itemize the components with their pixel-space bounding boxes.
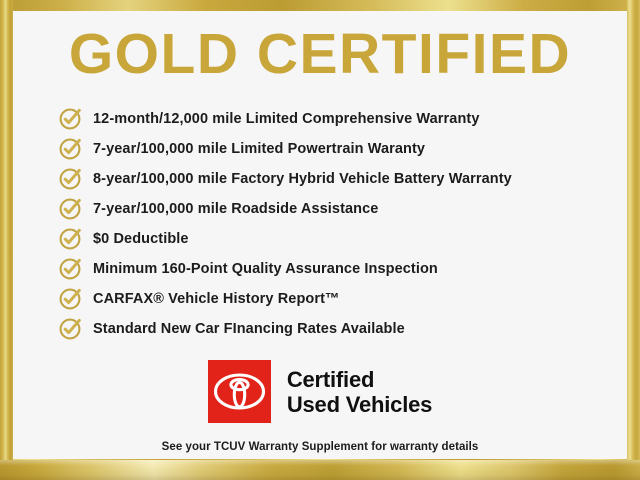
- gold-frame-left: [0, 0, 13, 480]
- gold-frame-top: [0, 0, 640, 11]
- gold-certified-certificate: GOLD CERTIFIED 12-month/12,000 mile Limi…: [0, 0, 640, 480]
- list-item: Minimum 160-Point Quality Assurance Insp…: [58, 254, 617, 284]
- list-item: 7-year/100,000 mile Roadside Assistance: [58, 194, 617, 224]
- list-item-label: 7-year/100,000 mile Roadside Assistance: [93, 201, 378, 217]
- check-circle-icon: [58, 315, 84, 341]
- check-circle-icon: [58, 255, 84, 281]
- certificate-panel: GOLD CERTIFIED 12-month/12,000 mile Limi…: [13, 11, 627, 459]
- list-item: 12-month/12,000 mile Limited Comprehensi…: [58, 104, 617, 134]
- list-item: CARFAX® Vehicle History Report™: [58, 284, 617, 314]
- check-circle-icon: [58, 225, 84, 251]
- list-item: 7-year/100,000 mile Limited Powertrain W…: [58, 134, 617, 164]
- list-item-label: 8-year/100,000 mile Factory Hybrid Vehic…: [93, 171, 512, 187]
- check-circle-icon: [58, 135, 84, 161]
- gold-frame-right: [627, 0, 640, 480]
- toyota-certified-used-vehicles-lockup: Certified Used Vehicles: [13, 360, 627, 423]
- toyota-emblem-icon: [208, 360, 271, 423]
- list-item-label: Standard New Car FInancing Rates Availab…: [93, 321, 405, 337]
- check-circle-icon: [58, 285, 84, 311]
- list-item-label: Minimum 160-Point Quality Assurance Insp…: [93, 261, 438, 277]
- check-circle-icon: [58, 165, 84, 191]
- benefits-list: 12-month/12,000 mile Limited Comprehensi…: [58, 104, 617, 344]
- brand-wordmark-line2: Used Vehicles: [287, 392, 432, 417]
- list-item: $0 Deductible: [58, 224, 617, 254]
- check-circle-icon: [58, 195, 84, 221]
- list-item-label: 7-year/100,000 mile Limited Powertrain W…: [93, 141, 425, 157]
- brand-wordmark: Certified Used Vehicles: [287, 367, 432, 417]
- list-item-label: 12-month/12,000 mile Limited Comprehensi…: [93, 111, 480, 127]
- brand-wordmark-line1: Certified: [287, 367, 432, 392]
- page-title: GOLD CERTIFIED: [13, 26, 627, 83]
- list-item: 8-year/100,000 mile Factory Hybrid Vehic…: [58, 164, 617, 194]
- check-circle-icon: [58, 105, 84, 131]
- gold-frame-bottom-shading: [0, 460, 640, 480]
- list-item-label: $0 Deductible: [93, 231, 189, 247]
- list-item-label: CARFAX® Vehicle History Report™: [93, 291, 340, 307]
- warranty-footnote: See your TCUV Warranty Supplement for wa…: [13, 441, 627, 453]
- list-item: Standard New Car FInancing Rates Availab…: [58, 314, 617, 344]
